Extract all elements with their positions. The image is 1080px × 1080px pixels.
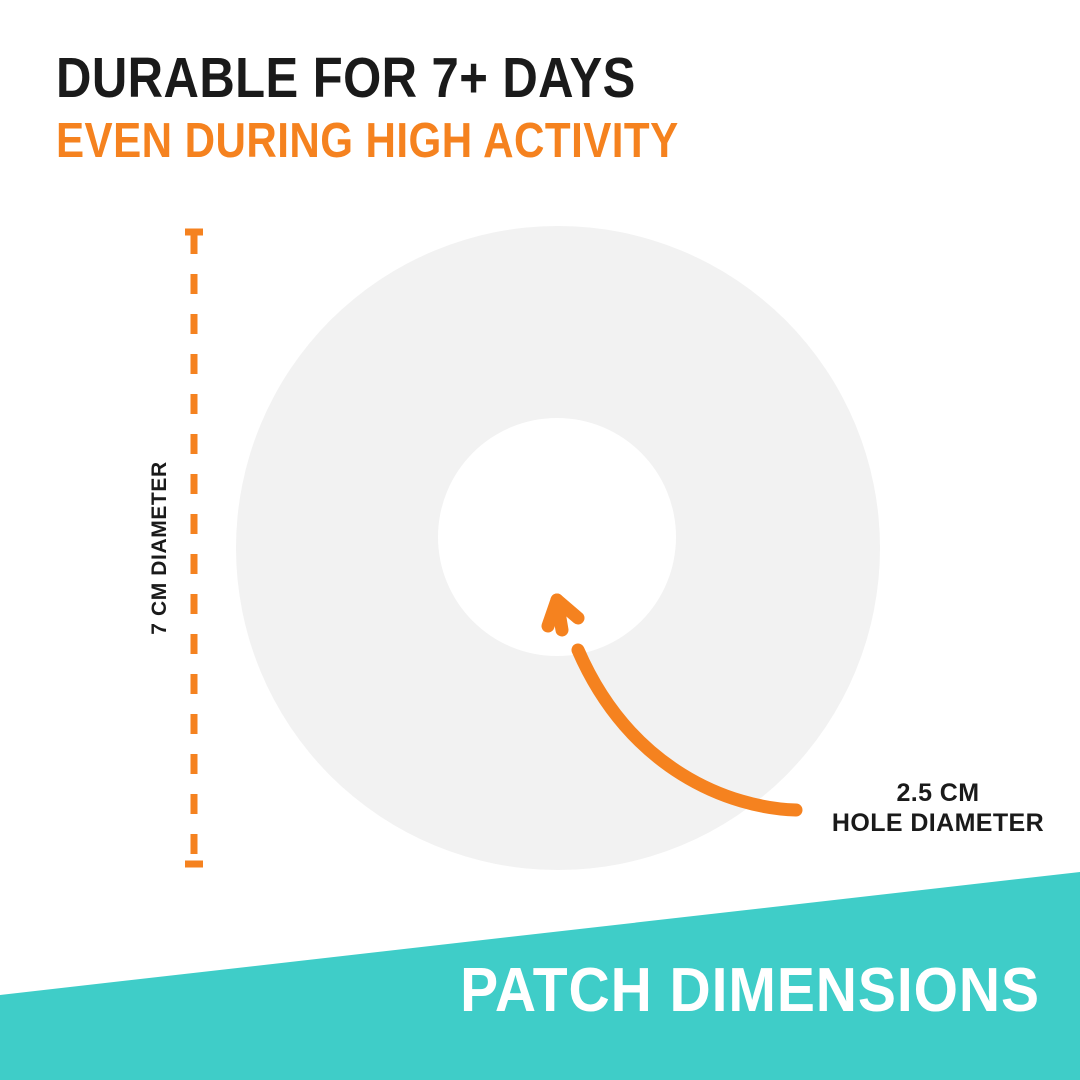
hole-diameter-value: 2.5 CM [818,778,1058,808]
measure-line-svg [184,228,204,868]
headline: DURABLE FOR 7+ DAYS [56,48,830,108]
subheadline: EVEN DURING HIGH ACTIVITY [56,114,830,168]
footer-title: PATCH DIMENSIONS [83,956,1040,1026]
patch-graphic [236,226,880,870]
outer-diameter-label: 7 CM DIAMETER [148,461,172,634]
patch-center-hole [438,418,676,656]
hole-diameter-caption: HOLE DIAMETER [818,808,1058,838]
infographic-canvas: DURABLE FOR 7+ DAYS EVEN DURING HIGH ACT… [0,0,1080,1080]
hole-diameter-callout: 2.5 CM HOLE DIAMETER [818,778,1058,838]
outer-diameter-measure-line [184,228,204,868]
headline-block: DURABLE FOR 7+ DAYS EVEN DURING HIGH ACT… [56,48,956,168]
